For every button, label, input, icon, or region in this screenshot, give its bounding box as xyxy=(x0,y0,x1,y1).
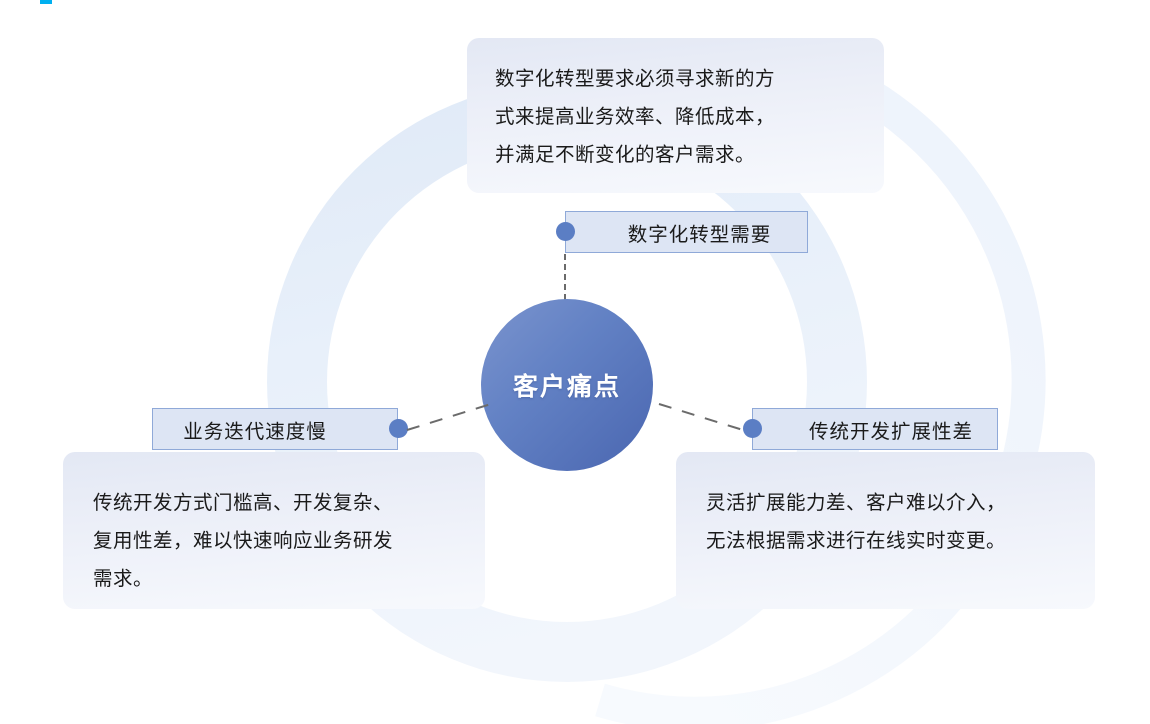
branch-dot-top xyxy=(556,222,575,241)
branch-pill-left[interactable]: 业务迭代速度慢 xyxy=(152,408,398,450)
center-node[interactable]: 客户痛点 xyxy=(481,299,653,471)
branch-pill-right[interactable]: 传统开发扩展性差 xyxy=(752,408,998,450)
branch-body-top: 数字化转型要求必须寻求新的方 式来提高业务效率、降低成本， 并满足不断变化的客户… xyxy=(495,60,858,174)
connector-top xyxy=(564,254,566,300)
branch-panel-right: 灵活扩展能力差、客户难以介入， 无法根据需求进行在线实时变更。 xyxy=(676,452,1095,609)
branch-dot-right xyxy=(743,419,762,438)
corner-accent-mark xyxy=(40,0,52,4)
center-node-label: 客户痛点 xyxy=(513,367,621,403)
branch-panel-left: 传统开发方式门槛高、开发复杂、 复用性差，难以快速响应业务研发 需求。 xyxy=(63,452,485,609)
branch-pill-top[interactable]: 数字化转型需要 xyxy=(565,211,808,253)
branch-label-top: 数字化转型需要 xyxy=(628,218,772,247)
branch-body-left: 传统开发方式门槛高、开发复杂、 复用性差，难以快速响应业务研发 需求。 xyxy=(93,484,465,598)
branch-label-left: 业务迭代速度慢 xyxy=(183,415,327,444)
branch-label-right: 传统开发扩展性差 xyxy=(809,415,973,444)
branch-body-right: 灵活扩展能力差、客户难以介入， 无法根据需求进行在线实时变更。 xyxy=(706,484,1075,560)
diagram-canvas: 数字化转型要求必须寻求新的方 式来提高业务效率、降低成本， 并满足不断变化的客户… xyxy=(0,0,1150,724)
connector-left xyxy=(405,398,495,434)
branch-panel-top: 数字化转型要求必须寻求新的方 式来提高业务效率、降低成本， 并满足不断变化的客户… xyxy=(467,38,884,193)
connector-right xyxy=(655,398,745,434)
